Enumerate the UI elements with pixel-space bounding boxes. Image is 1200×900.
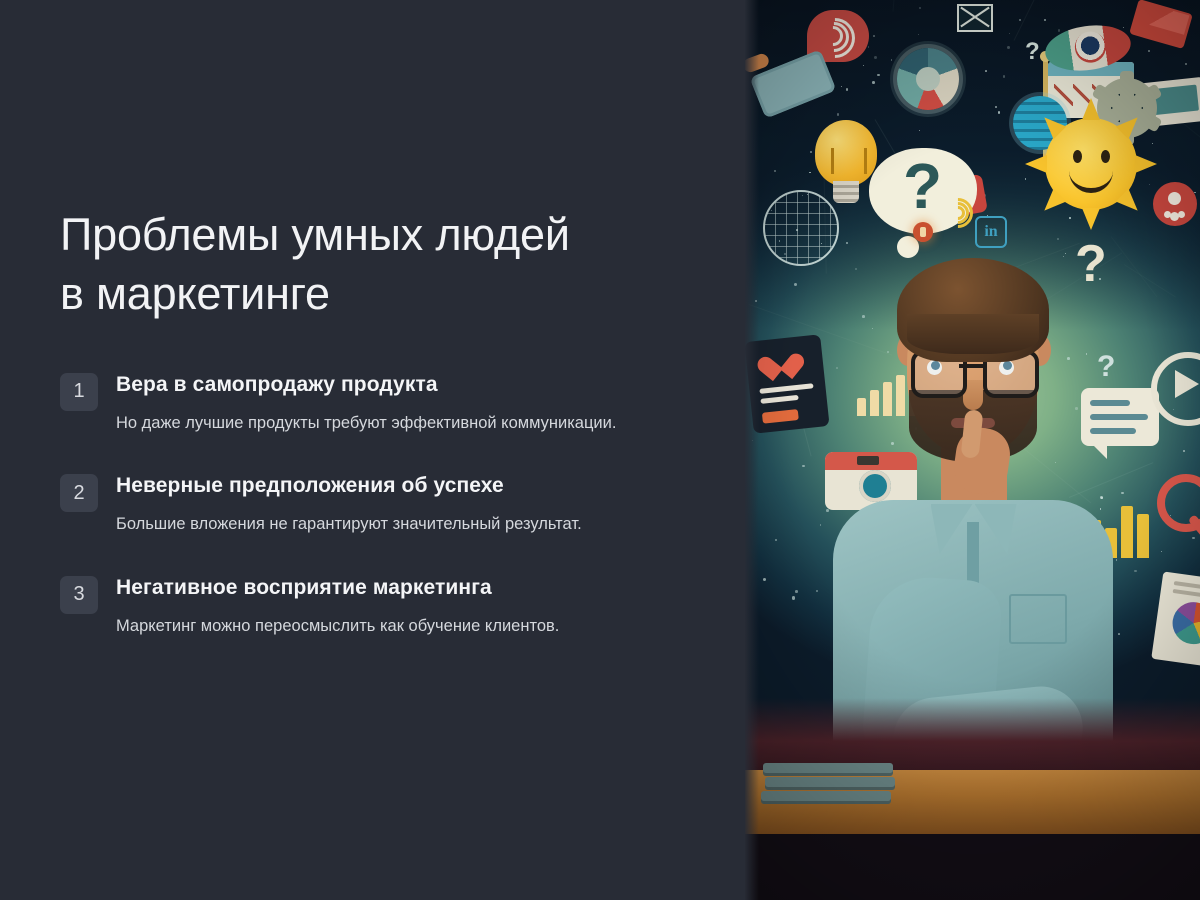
list-item: 3 Негативное восприятие маркетинга Марке… [60, 575, 685, 642]
list-item-title: Вера в самопродажу продукта [116, 372, 616, 398]
list-item-number-badge: 1 [60, 373, 98, 411]
list-item-title: Негативное восприятие маркетинга [116, 575, 559, 601]
image-left-fade [745, 0, 759, 900]
list-item-title: Неверные предположения об успехе [116, 473, 582, 499]
vignette [745, 0, 1200, 900]
list-item-description: Маркетинг можно переосмыслить как обучен… [116, 610, 559, 642]
problem-list: 1 Вера в самопродажу продукта Но даже лу… [60, 372, 685, 642]
slide-content: Проблемы умных людей в маркетинге 1 Вера… [0, 0, 745, 900]
list-item-body: Вера в самопродажу продукта Но даже лучш… [116, 372, 616, 439]
list-item-number-badge: 2 [60, 474, 98, 512]
list-item-body: Негативное восприятие маркетинга Маркети… [116, 575, 559, 642]
list-item-number-badge: 3 [60, 576, 98, 614]
illustration-image: ? ? ? in [745, 0, 1200, 900]
list-item: 2 Неверные предположения об успехе Больш… [60, 473, 685, 540]
list-item-description: Большие вложения не гарантируют значител… [116, 508, 582, 540]
list-item: 1 Вера в самопродажу продукта Но даже лу… [60, 372, 685, 439]
page-title: Проблемы умных людей в маркетинге [60, 0, 685, 324]
list-item-description: Но даже лучшие продукты требуют эффектив… [116, 407, 616, 439]
list-item-body: Неверные предположения об успехе Большие… [116, 473, 582, 540]
slide: Проблемы умных людей в маркетинге 1 Вера… [0, 0, 1200, 900]
